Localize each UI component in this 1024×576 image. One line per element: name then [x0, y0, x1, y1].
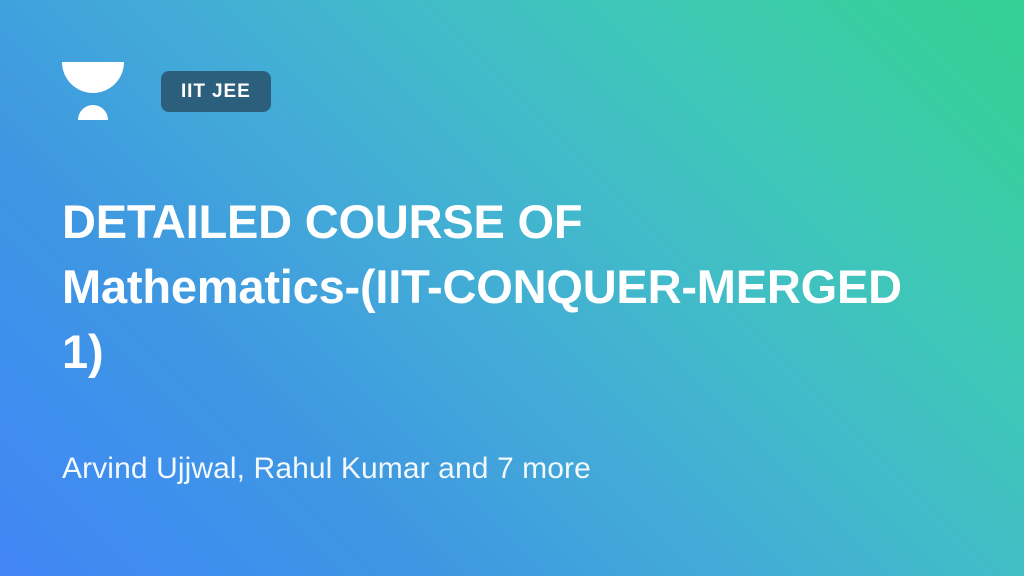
page-title: DETAILED COURSE OF Mathematics-(IIT-CONQ…: [62, 189, 1024, 384]
course-cover-card: IIT JEE DETAILED COURSE OF Mathematics-(…: [0, 0, 1024, 576]
page-title-line-3: 1): [62, 319, 1024, 384]
page-title-line-1: DETAILED COURSE OF: [62, 189, 1024, 254]
page-title-line-2: Mathematics-(IIT-CONQUER-MERGED: [62, 254, 1024, 319]
unacademy-bowl-logo-icon: [62, 62, 124, 120]
cover-header: IIT JEE: [62, 62, 271, 120]
educators-subtitle: Arvind Ujjwal, Rahul Kumar and 7 more: [62, 449, 591, 489]
category-badge-iit-jee[interactable]: IIT JEE: [161, 71, 271, 112]
